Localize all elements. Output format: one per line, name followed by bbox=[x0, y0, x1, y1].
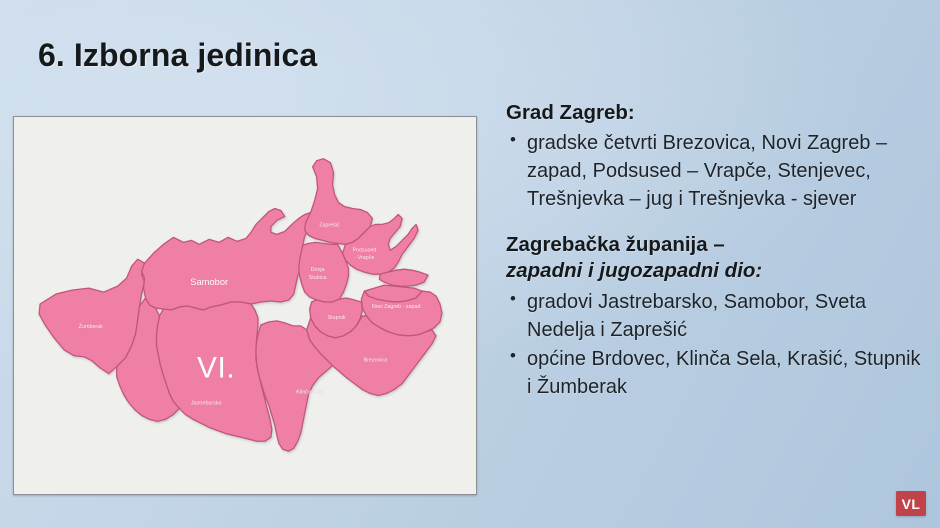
map-label-donja: Donja bbox=[311, 267, 325, 273]
map-district-number: VI. bbox=[197, 352, 235, 385]
content-column: Grad Zagreb: gradske četvrti Brezovica, … bbox=[506, 100, 926, 401]
map-label-stupnik: Stupnik bbox=[328, 315, 346, 321]
list-item: gradovi Jastrebarsko, Samobor, Sveta Ned… bbox=[506, 288, 926, 344]
bullet-list-grad-zagreb: gradske četvrti Brezovica, Novi Zagreb –… bbox=[506, 129, 926, 213]
map-label-samobor: Samobor bbox=[190, 277, 228, 287]
map-label-novi-zagreb-zapad: Novi Zagreb - zapad bbox=[372, 304, 421, 310]
map-panel: Samobor Žumberak Jastrebarsko Klinča Sel… bbox=[13, 116, 477, 495]
page-title: 6. Izborna jedinica bbox=[38, 37, 317, 74]
map-label-zumberak: Žumberak bbox=[79, 322, 103, 330]
heading-zagrebacka-zupanija-line2: zapadni i jugozapadni dio: bbox=[506, 258, 926, 284]
list-item: gradske četvrti Brezovica, Novi Zagreb –… bbox=[506, 129, 926, 213]
bullet-list-zagrebacka-zupanija: gradovi Jastrebarsko, Samobor, Sveta Ned… bbox=[506, 288, 926, 401]
map-label-vrapce: - Vrapče bbox=[354, 255, 374, 261]
map-label-stubica: Stubica bbox=[309, 275, 327, 281]
heading-grad-zagreb: Grad Zagreb: bbox=[506, 100, 926, 126]
map-label-zapresic: Zaprešić bbox=[319, 222, 340, 228]
map-label-brezovica: Brezovica bbox=[364, 358, 388, 364]
heading-zagrebacka-zupanija-line1: Zagrebačka županija – bbox=[506, 232, 926, 258]
watermark-logo: VL bbox=[896, 491, 926, 516]
map-label-jastrebarsko: Jastrebarsko bbox=[191, 400, 222, 406]
watermark-label: VL bbox=[902, 497, 921, 511]
electoral-district-map: Samobor Žumberak Jastrebarsko Klinča Sel… bbox=[14, 117, 476, 494]
map-label-klinca-sela: Klinča Sela bbox=[296, 390, 323, 396]
list-item: općine Brdovec, Klinča Sela, Krašić, Stu… bbox=[506, 345, 926, 401]
slide-canvas: 6. Izborna jedinica bbox=[0, 0, 940, 528]
map-label-podsused: Podsused bbox=[352, 247, 376, 253]
